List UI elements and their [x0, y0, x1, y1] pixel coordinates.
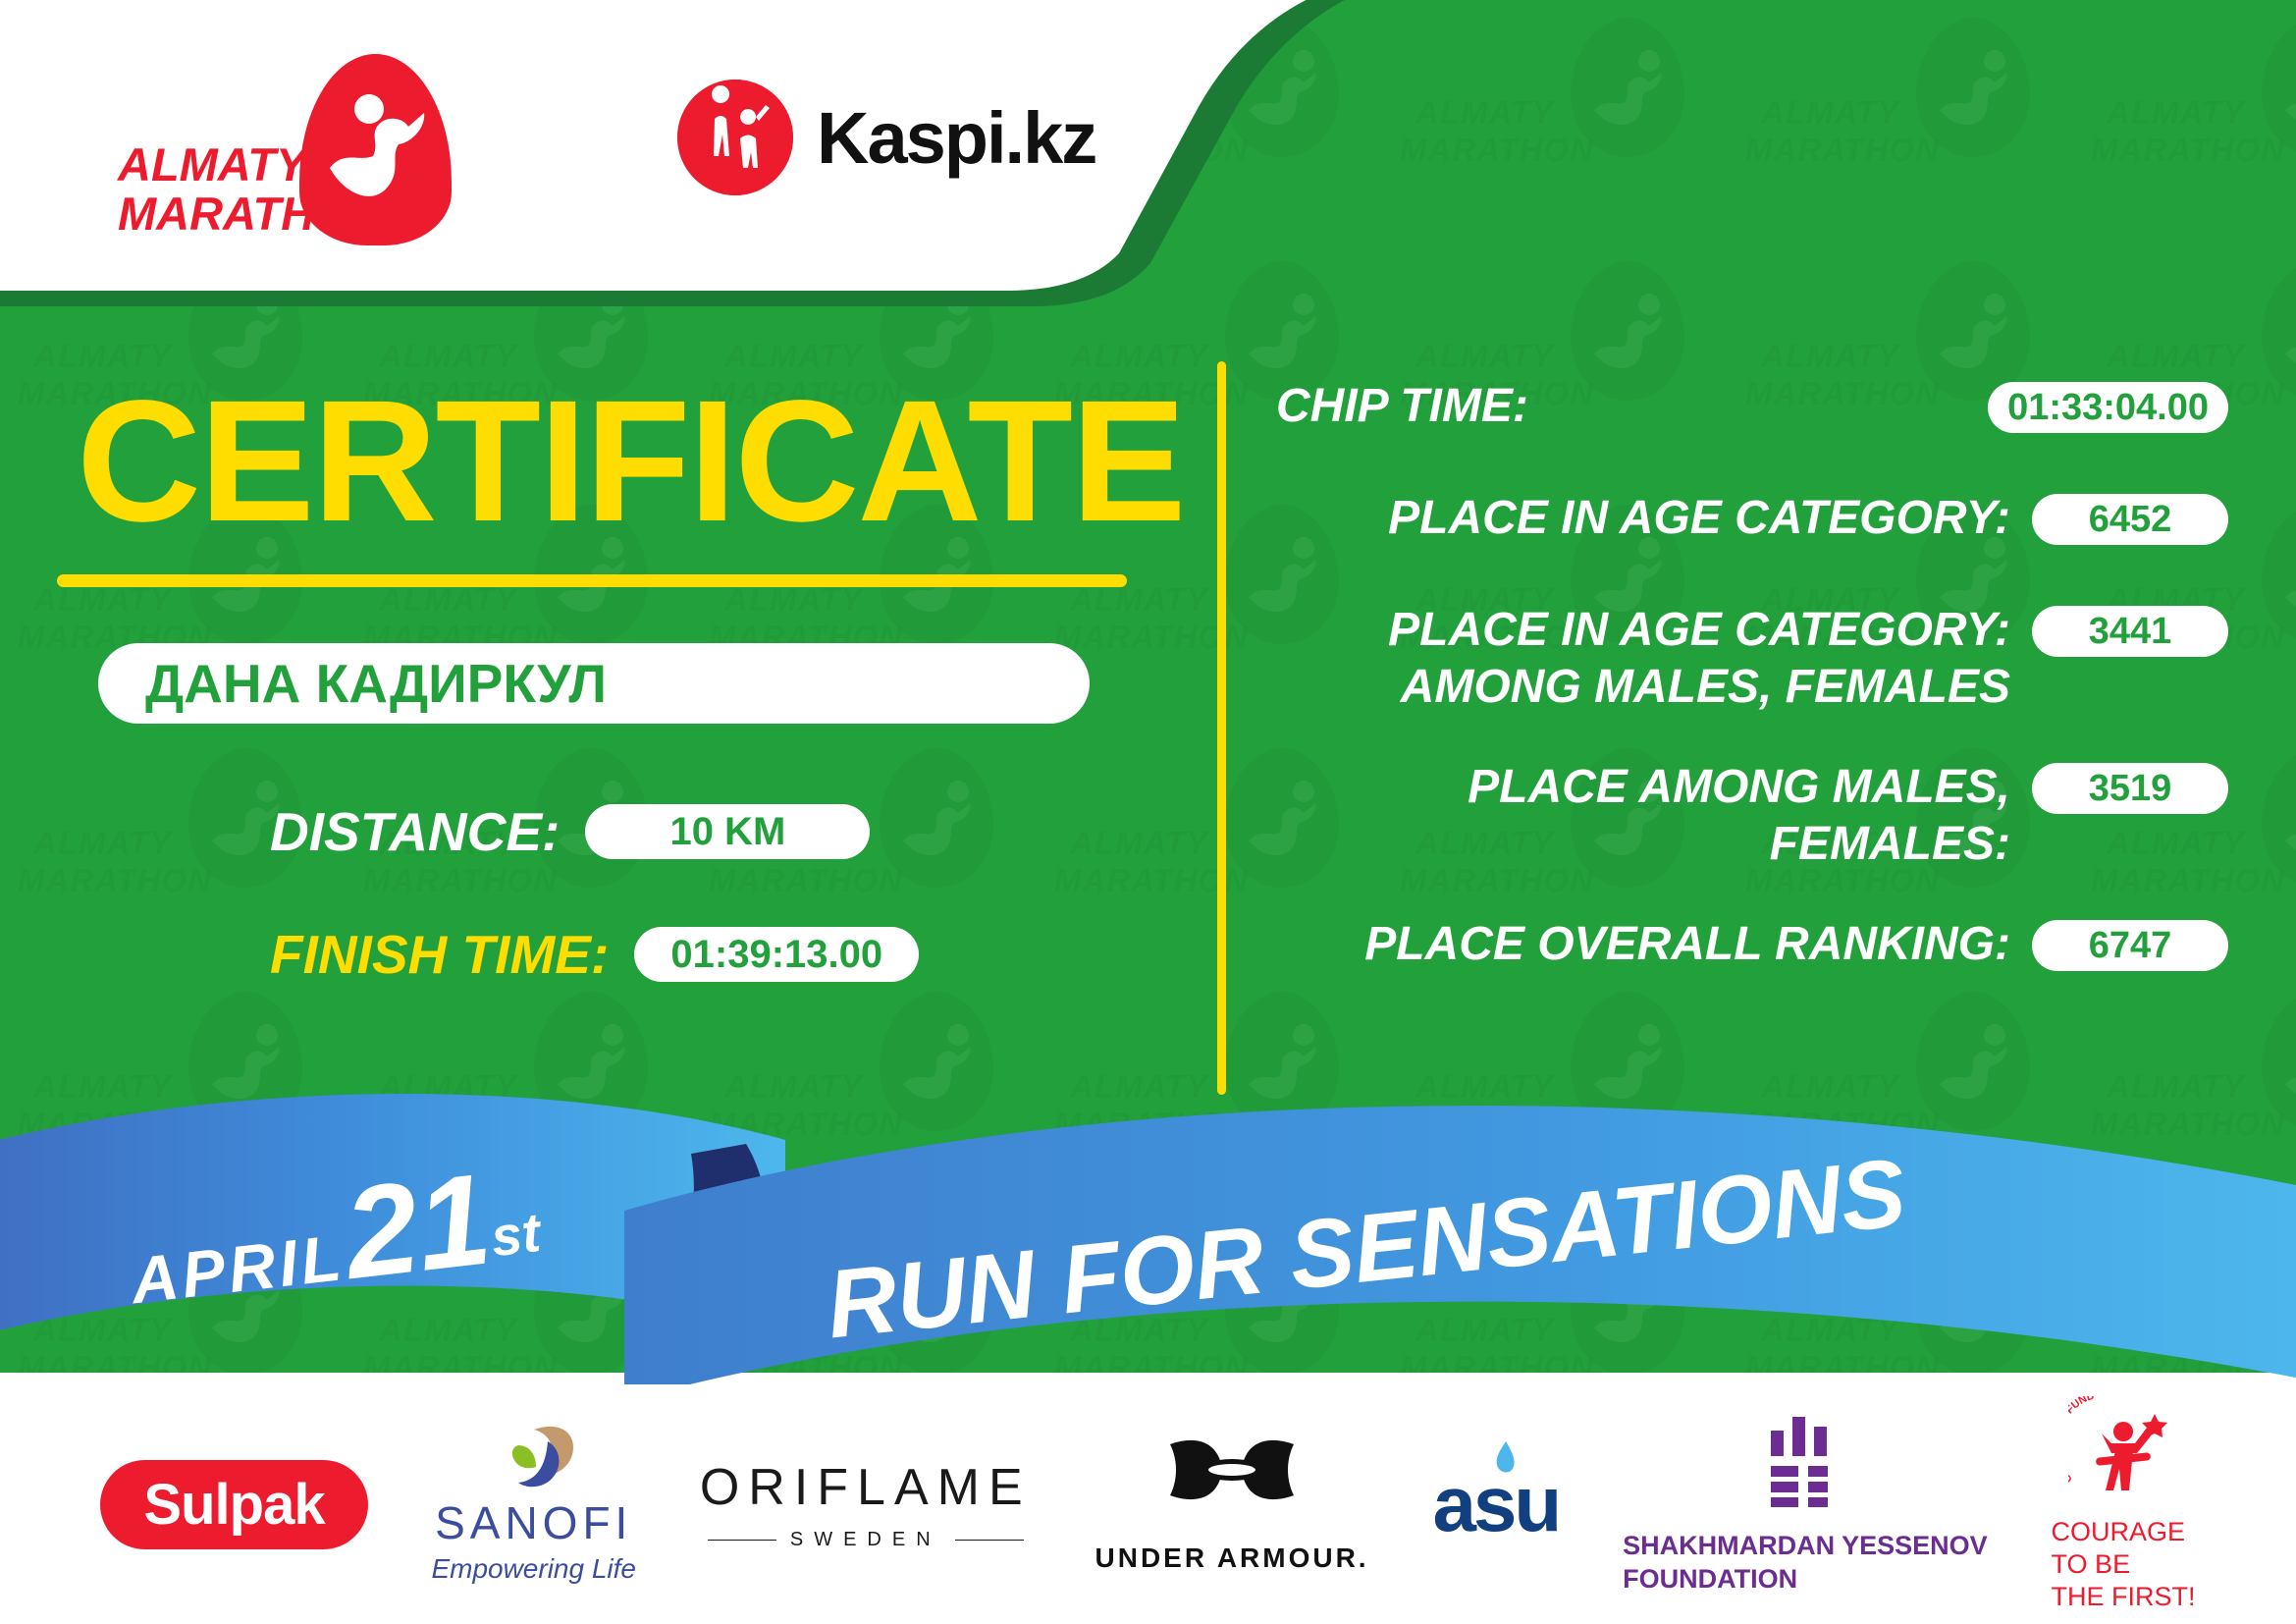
- place-age-category-value: 6452: [2032, 494, 2228, 545]
- stat-row-place-age-category-gender: PLACE IN AGE CATEGORY: AMONG MALES, FEMA…: [1276, 602, 2228, 716]
- chip-time-value: 01:33:04.00: [1988, 382, 2228, 433]
- place-age-category-gender-label-line2: AMONG MALES, FEMALES: [1276, 659, 2010, 716]
- sponsor-sanofi: SANOFI Empowering Life: [431, 1424, 636, 1585]
- place-age-category-gender-label-line1: PLACE IN AGE CATEGORY:: [1276, 602, 2010, 659]
- distance-row: DISTANCE: 10 KM: [270, 800, 870, 863]
- place-overall-label: PLACE OVERALL RANKING:: [1276, 916, 2032, 973]
- corporate-fund-logo-text: COURAGE TO BE THE FIRST!: [2052, 1516, 2196, 1613]
- place-among-gender-label-line1: PLACE AMONG MALES,: [1276, 759, 2010, 816]
- sponsor-corporate-fund: CORPORATE FUND COURAGE TO BE THE FIRST!: [2052, 1396, 2196, 1613]
- place-among-gender-label-line2: FEMALES:: [1276, 816, 2010, 873]
- oriflame-sub-wrap: SWEDEN: [708, 1529, 1024, 1551]
- yessenov-logo-line1: SHAKHMARDAN YESSENOV: [1623, 1529, 1988, 1562]
- yessenov-logo-line2: FOUNDATION: [1623, 1562, 1988, 1596]
- finish-time-value: 01:39:13.00: [634, 927, 919, 982]
- place-overall-value: 6747: [2032, 920, 2228, 971]
- place-age-category-gender-value: 3441: [2032, 606, 2228, 657]
- yessenov-logo-text: SHAKHMARDAN YESSENOV FOUNDATION: [1623, 1529, 1988, 1596]
- marathon-logo-line2: MARATHON: [118, 189, 384, 239]
- corporate-fund-mark-icon: CORPORATE FUND: [2068, 1396, 2178, 1500]
- sponsor-yessenov: SHAKHMARDAN YESSENOV FOUNDATION: [1623, 1413, 1988, 1596]
- svg-text:CORPORATE FUND: CORPORATE FUND: [2068, 1396, 2096, 1486]
- sponsor-bar: Sulpak SANOFI Empowering Life ORIFLAME S…: [0, 1384, 2296, 1624]
- marathon-logo-text: ALMATY MARATHON: [118, 140, 384, 239]
- kaspi-mark-icon: [677, 80, 793, 195]
- under-armour-mark-icon: [1158, 1435, 1306, 1533]
- stat-row-place-age-category: PLACE IN AGE CATEGORY: 6452: [1276, 490, 2228, 559]
- oriflame-sub-text: SWEDEN: [790, 1529, 941, 1551]
- oriflame-rule-left: [708, 1540, 776, 1541]
- place-age-category-gender-label: PLACE IN AGE CATEGORY: AMONG MALES, FEMA…: [1276, 602, 2032, 716]
- yessenov-mark-icon: [1767, 1413, 1843, 1507]
- asu-droplet-icon: [1491, 1441, 1521, 1475]
- corporate-fund-line1: COURAGE: [2052, 1516, 2196, 1548]
- event-ribbon: APRIL 21st RUN FOR SENSATIONS: [0, 1085, 2296, 1404]
- place-among-gender-value: 3519: [2032, 763, 2228, 814]
- sulpak-logo-text: Sulpak: [100, 1460, 367, 1549]
- stat-row-place-among-gender: PLACE AMONG MALES, FEMALES: 3519: [1276, 759, 2228, 873]
- sanofi-tagline: Empowering Life: [431, 1553, 636, 1585]
- participant-name-field: ДАНА КАДИРКУЛ: [98, 643, 1090, 724]
- sanofi-mark-icon: [489, 1424, 579, 1496]
- vertical-divider: [1217, 361, 1226, 1095]
- sponsor-oriflame: ORIFLAME SWEDEN: [700, 1458, 1032, 1551]
- distance-label: DISTANCE:: [270, 800, 560, 863]
- sponsor-sulpak: Sulpak: [100, 1460, 367, 1549]
- place-age-category-label: PLACE IN AGE CATEGORY:: [1276, 490, 2032, 547]
- kaspi-logo-text: Kaspi.kz: [817, 96, 1095, 180]
- corporate-fund-line2: TO BE: [2052, 1548, 2196, 1581]
- kaspi-logo: Kaspi.kz: [677, 79, 1095, 196]
- place-among-gender-label: PLACE AMONG MALES, FEMALES:: [1276, 759, 2032, 873]
- chip-time-label: CHIP TIME:: [1276, 378, 1988, 435]
- stat-row-chip-time: CHIP TIME: 01:33:04.00: [1276, 378, 2228, 447]
- event-day-suffix: st: [488, 1201, 544, 1268]
- header-logos: ALMATY MARATHON Kaspi.kz: [0, 0, 1276, 285]
- finish-time-row: FINISH TIME: 01:39:13.00: [270, 923, 919, 986]
- event-day: 21: [338, 1146, 498, 1306]
- sponsor-asu: asu: [1432, 1459, 1559, 1549]
- finish-time-label: FINISH TIME:: [270, 923, 609, 986]
- stats-panel: CHIP TIME: 01:33:04.00 PLACE IN AGE CATE…: [1276, 378, 2228, 1028]
- page-title: CERTIFICATE: [77, 375, 1184, 548]
- under-armour-logo-text: UNDER ARMOUR.: [1095, 1543, 1369, 1574]
- oriflame-rule-right: [955, 1540, 1024, 1541]
- sanofi-logo-text: SANOFI: [435, 1496, 632, 1549]
- sponsor-under-armour: UNDER ARMOUR.: [1095, 1435, 1369, 1574]
- participant-name-value: ДАНА КАДИРКУЛ: [98, 652, 607, 715]
- title-underline: [57, 574, 1127, 587]
- almaty-marathon-logo: ALMATY MARATHON: [118, 54, 442, 231]
- corporate-fund-line3: THE FIRST!: [2052, 1581, 2196, 1613]
- stat-row-place-overall: PLACE OVERALL RANKING: 6747: [1276, 916, 2228, 985]
- certificate-page: ALMATY MARATHON: [0, 0, 2296, 1624]
- kaspi-figures-icon: [677, 80, 793, 195]
- asu-logo-text: asu: [1432, 1459, 1559, 1549]
- distance-value: 10 KM: [585, 804, 870, 859]
- event-month: APRIL: [128, 1220, 348, 1317]
- oriflame-logo-text: ORIFLAME: [700, 1458, 1032, 1517]
- marathon-logo-line1: ALMATY: [118, 140, 384, 189]
